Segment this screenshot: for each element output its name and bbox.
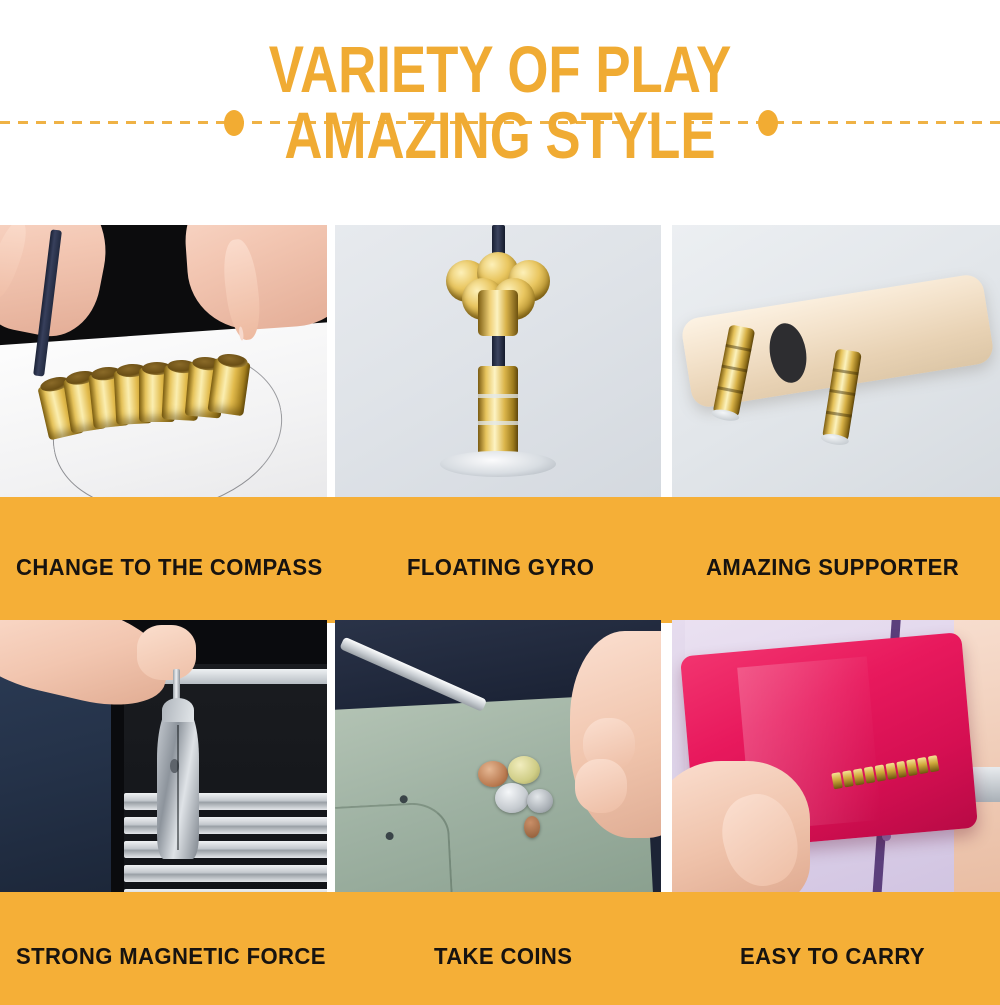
magnet-bead-row (43, 369, 292, 423)
fingernail (240, 326, 246, 341)
caption-easy-to-carry: EASY TO CARRY (740, 943, 925, 970)
left-index-finger (0, 225, 33, 302)
coin (524, 816, 540, 838)
caption-amazing-supporter: AMAZING SUPPORTER (706, 554, 959, 581)
photo-magnetic-force[interactable] (0, 620, 327, 892)
photo-compass[interactable] (0, 225, 327, 497)
title-line-2: AMAZING STYLE (100, 100, 900, 164)
coin (527, 789, 553, 813)
hand-grip (137, 625, 196, 679)
coin (508, 756, 540, 784)
jeans-pocket (335, 800, 453, 892)
gyro-hub-ring (478, 290, 518, 336)
photo-take-coins[interactable] (335, 620, 661, 892)
caption-take-coins: TAKE COINS (434, 943, 572, 970)
caption-strong-magnetic-force: STRONG MAGNETIC FORCE (16, 943, 326, 970)
gallery-row-1: CHANGE TO THE COMPASS FLOATING GYRO AMAZ… (0, 225, 1000, 623)
magnet-bead (207, 358, 250, 416)
title-line-1: VARIETY OF PLAY (100, 34, 900, 100)
feature-gallery: CHANGE TO THE COMPASS FLOATING GYRO AMAZ… (0, 225, 1000, 1000)
gallery-row-2: STRONG MAGNETIC FORCE TAKE COINS EASY TO… (0, 620, 1000, 1000)
coin (495, 783, 529, 813)
locking-pliers (157, 707, 200, 859)
metal-base-disc (440, 451, 556, 477)
caption-change-to-the-compass: CHANGE TO THE COMPASS (16, 554, 323, 581)
hand (570, 631, 661, 838)
page-title: VARIETY OF PLAY AMAZING STYLE (0, 34, 1000, 164)
right-hand (181, 225, 327, 334)
gyro-magnet-stack (478, 366, 518, 458)
photo-floating-gyro[interactable] (335, 225, 661, 497)
right-index-finger (221, 237, 265, 341)
header-banner: VARIETY OF PLAY AMAZING STYLE (0, 0, 1000, 225)
stack-seam (478, 394, 518, 398)
stack-seam (478, 421, 518, 425)
photo-easy-to-carry[interactable] (672, 620, 1000, 892)
photo-phone-supporter[interactable] (672, 225, 1000, 497)
tool-chest (124, 664, 327, 892)
caption-floating-gyro: FLOATING GYRO (407, 554, 594, 581)
